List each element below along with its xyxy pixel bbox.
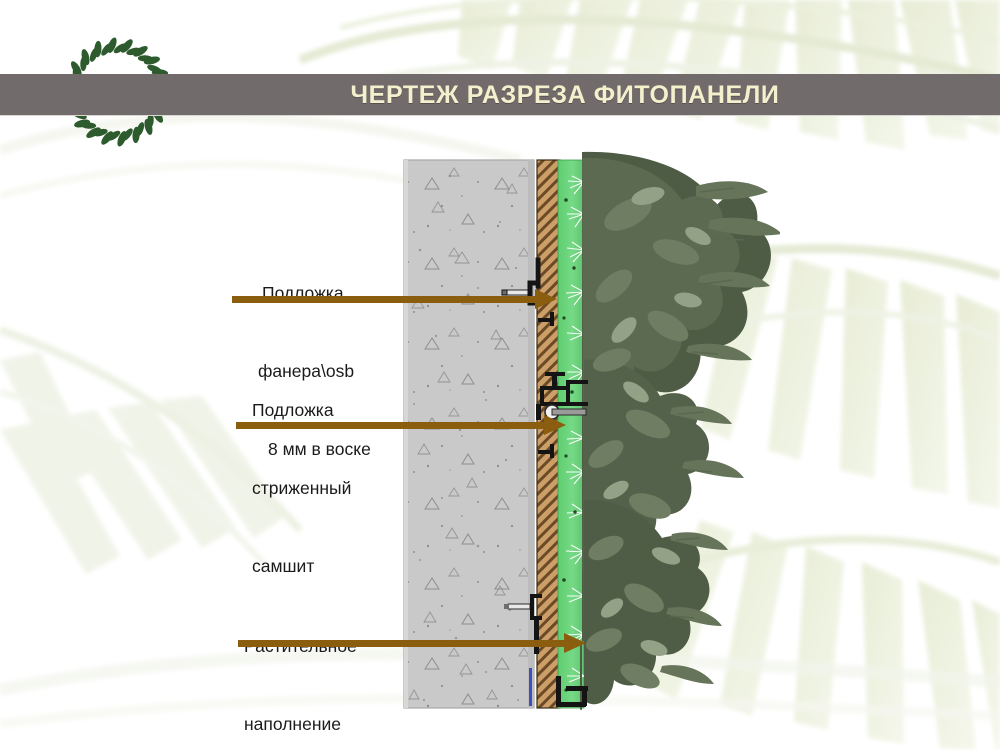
arrow-head xyxy=(535,289,557,309)
wall-edge-marker xyxy=(529,668,532,706)
callout-arrow-rastitelnoe-napolnenie xyxy=(238,636,586,650)
arrow-shaft xyxy=(238,640,566,647)
callout-arrow-podlozhka-samshit xyxy=(236,418,566,432)
concrete-wall xyxy=(404,160,534,708)
arrow-head xyxy=(544,415,566,435)
callout-line: самшит xyxy=(252,553,351,579)
callout-line: наполнение xyxy=(244,711,357,737)
callout-arrow-podlozhka-fanera xyxy=(232,292,557,306)
callout-line: стриженный xyxy=(252,475,351,501)
arrow-head xyxy=(564,633,586,653)
arrow-shaft xyxy=(232,296,537,303)
slide-canvas: GardenGo ЧЕРТЕЖ РАЗРЕЗА ФИТОПАНЕЛИ xyxy=(0,0,1000,750)
arrow-shaft xyxy=(236,422,546,429)
callout-label-rastitelnoe-napolnenie: Растительное наполнение xyxy=(244,581,357,750)
